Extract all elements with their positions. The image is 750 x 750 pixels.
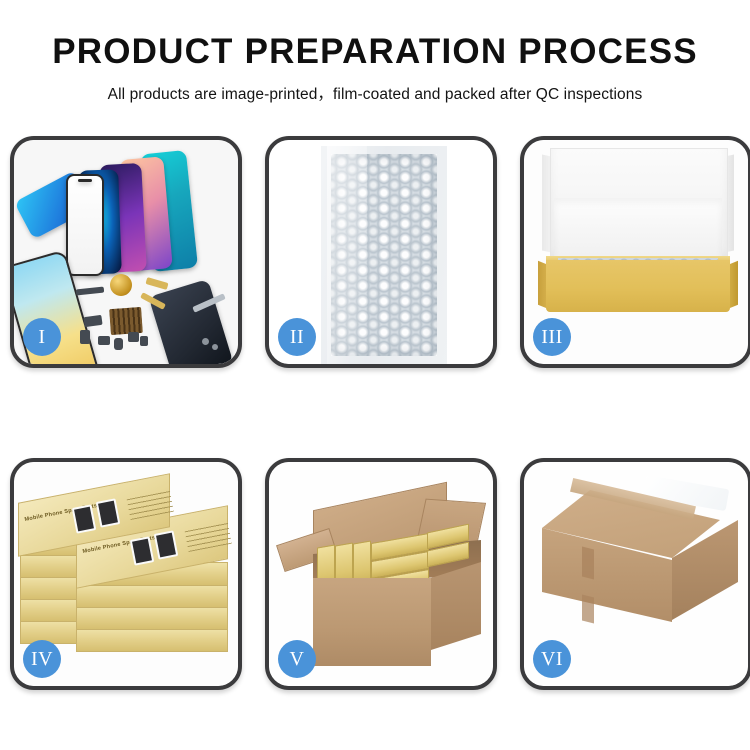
- phone-notch: [78, 179, 92, 182]
- screw-2: [212, 344, 218, 350]
- step-badge-1: I: [23, 318, 61, 356]
- foam-sheet: [554, 198, 722, 264]
- step-panel-4: Mobile Phone Spare Parts Mobile Phone Sp…: [10, 458, 242, 690]
- part-small-3: [98, 336, 110, 345]
- speaker-component: [110, 274, 132, 296]
- page-subtitle: All products are image-printed，film-coat…: [0, 82, 750, 104]
- step-panel-6: VI: [520, 458, 750, 690]
- flex-cable-1: [145, 277, 168, 290]
- step-badge-2: II: [278, 318, 316, 356]
- part-small-5: [128, 332, 139, 342]
- part-small-6: [140, 336, 148, 346]
- carton-seam-bottom: [582, 595, 594, 624]
- carton-seam-top: [582, 547, 594, 580]
- step-panel-3: III: [520, 136, 750, 368]
- process-steps-grid: I II III: [10, 136, 740, 690]
- kraft-box-body: [546, 260, 730, 312]
- part-small-2: [80, 330, 90, 344]
- step-panel-5: V: [265, 458, 497, 690]
- step-panel-2: II: [265, 136, 497, 368]
- plastic-sheen: [327, 146, 367, 364]
- phone-backplate: [148, 279, 233, 364]
- retail-box-stack-item: [76, 606, 228, 630]
- chip-component: [109, 307, 143, 335]
- phone-white-front: [66, 174, 104, 276]
- screw-1: [202, 338, 209, 345]
- step-badge-5: V: [278, 640, 316, 678]
- part-strip-1: [76, 287, 104, 296]
- carton-front: [313, 578, 431, 666]
- retail-box-stack-item: [76, 584, 228, 608]
- retail-box-stack-item: [76, 628, 228, 652]
- step-badge-3: III: [533, 318, 571, 356]
- step-badge-4: IV: [23, 640, 61, 678]
- step-badge-6: VI: [533, 640, 571, 678]
- page-header: PRODUCT PREPARATION PROCESS All products…: [0, 0, 750, 104]
- page-title: PRODUCT PREPARATION PROCESS: [0, 34, 750, 71]
- product-preparation-page: PRODUCT PREPARATION PROCESS All products…: [0, 0, 750, 750]
- part-small-1: [83, 315, 102, 327]
- part-small-4: [114, 338, 123, 350]
- step-panel-1: I: [10, 136, 242, 368]
